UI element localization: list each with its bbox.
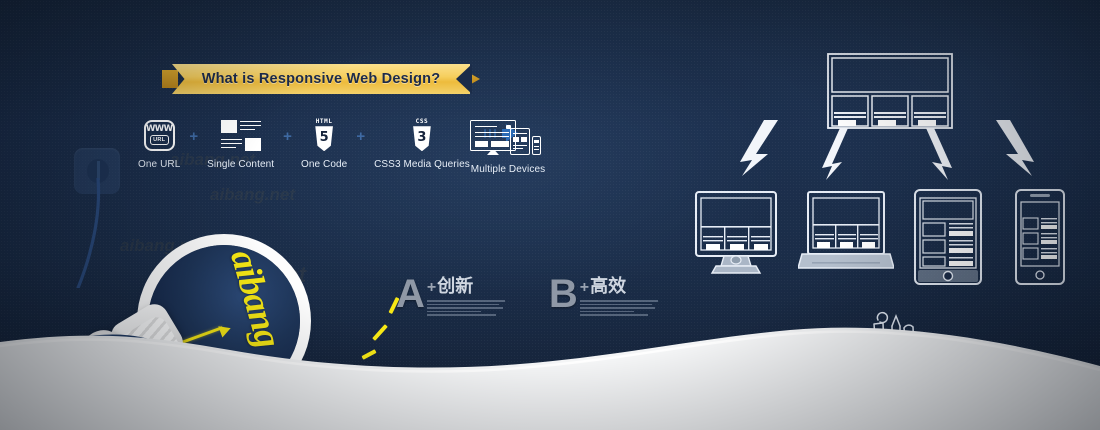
smartphone-wireframe bbox=[1012, 188, 1068, 286]
watermark: aibang.net bbox=[210, 185, 295, 205]
plus-separator-3: + bbox=[356, 128, 365, 145]
single-content-icon bbox=[207, 118, 274, 152]
css3-number: 3 bbox=[417, 131, 426, 144]
hero-banner: aibang.net aibang.net aibang.net aibang.… bbox=[0, 0, 1100, 430]
plus-separator-1: + bbox=[189, 128, 198, 145]
ribbon-tail-left bbox=[162, 70, 178, 88]
page-title: What is Responsive Web Design? bbox=[202, 71, 441, 87]
process-step-label: Single Content bbox=[207, 159, 274, 170]
plus-separator-2: + bbox=[283, 128, 292, 145]
one-url-icon: WWW URL bbox=[138, 118, 180, 152]
html5-number: 5 bbox=[320, 131, 329, 144]
process-step-one-code[interactable]: HTML 5 One Code bbox=[301, 118, 347, 170]
process-step-label: One Code bbox=[301, 159, 347, 170]
tablet-wireframe bbox=[912, 188, 984, 286]
desktop-monitor-wireframe bbox=[694, 190, 778, 284]
multiple-devices-icon bbox=[470, 120, 546, 156]
process-step-css3[interactable]: CSS 3 CSS3 Media Queries bbox=[374, 118, 470, 170]
css-wordmark: CSS bbox=[416, 119, 429, 125]
process-step-one-url[interactable]: WWW URL One URL bbox=[138, 118, 180, 170]
process-result-label: Multiple Devices bbox=[470, 164, 546, 175]
css3-shield-icon: CSS 3 bbox=[374, 118, 470, 152]
process-step-single-content[interactable]: Single Content bbox=[207, 118, 274, 170]
html5-shield-icon: HTML 5 bbox=[301, 118, 347, 152]
url-glyph: URL bbox=[150, 135, 169, 145]
process-step-label: One URL bbox=[138, 159, 180, 170]
process-result-multiple-devices[interactable]: Multiple Devices bbox=[470, 120, 546, 175]
headline-ribbon: What is Responsive Web Design? bbox=[172, 64, 470, 94]
process-step-label: CSS3 Media Queries bbox=[374, 159, 470, 170]
distribution-arrows bbox=[720, 118, 1050, 198]
laptop-wireframe bbox=[798, 190, 894, 284]
process-row: WWW URL One URL + Sin bbox=[138, 118, 518, 170]
www-glyph: WWW bbox=[146, 125, 172, 134]
html-wordmark: HTML bbox=[316, 119, 333, 125]
foreground-wave bbox=[0, 280, 1100, 430]
